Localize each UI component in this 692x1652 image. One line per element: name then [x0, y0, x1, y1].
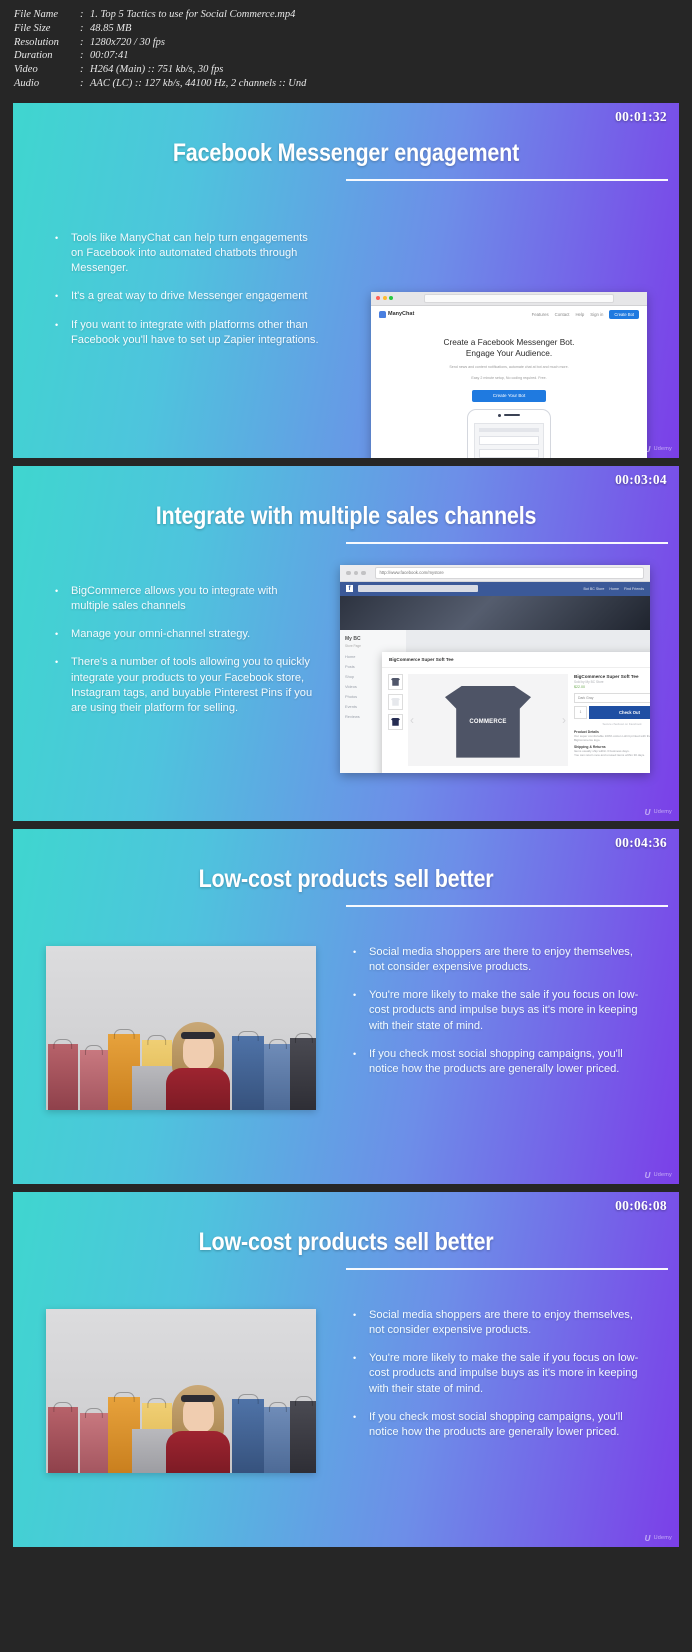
bullet-text: You're more likely to make the sale if y…: [369, 1351, 643, 1397]
udemy-watermark-label: Udemy: [654, 1535, 672, 1541]
slide-bullet-list: • Tools like ManyChat can help turn enga…: [55, 231, 323, 361]
slide-timestamp: 00:06:08: [615, 1198, 667, 1214]
variant-select: Dark Gray: [574, 693, 650, 703]
shopping-bag-black: [290, 1401, 316, 1473]
udemy-watermark: U Udemy: [645, 1534, 672, 1543]
window-maximize-icon: [361, 571, 366, 576]
nav-link-features: Features: [532, 312, 549, 317]
hero-subtext-line1: Send news and content notifications, aut…: [381, 365, 637, 370]
udemy-watermark-label: Udemy: [654, 446, 672, 452]
metadata-separator: :: [80, 8, 90, 22]
metadata-separator: :: [80, 49, 90, 63]
prev-image-icon: ‹: [410, 713, 414, 727]
bullet-item: • It's a great way to drive Messenger en…: [55, 289, 323, 304]
product-panel-title: BigCommerce Super Soft Tee: [382, 652, 650, 668]
nav-link-find-friends: Find Friends: [624, 587, 644, 591]
metadata-key: Resolution: [14, 36, 80, 50]
title-underline: [346, 905, 668, 907]
bullet-text: There's a number of tools allowing you t…: [71, 655, 317, 716]
bullet-marker-icon: •: [353, 1047, 369, 1077]
sunglasses-icon: [181, 1032, 215, 1039]
udemy-watermark-label: Udemy: [654, 809, 672, 815]
slide-bullet-list: • Social media shoppers are there to enj…: [353, 945, 643, 1090]
title-underline: [346, 179, 668, 181]
facebook-search-input: [358, 585, 478, 592]
bullet-item: • If you check most social shopping camp…: [353, 1047, 643, 1077]
bullet-marker-icon: •: [353, 945, 369, 975]
udemy-logo-icon: U: [645, 1171, 651, 1180]
nav-link-store: Bot BC Store: [583, 587, 604, 591]
shopping-bag-red: [48, 1044, 78, 1110]
bullet-text: Social media shoppers are there to enjoy…: [369, 1308, 643, 1338]
bullet-text: If you want to integrate with platforms …: [71, 318, 323, 348]
slide-thumbnail-1: 00:01:32 Facebook Messenger engagement •…: [13, 103, 679, 458]
nav-link-help: Help: [575, 312, 584, 317]
bullet-marker-icon: •: [353, 1351, 369, 1397]
secure-checkout-note: Secure checkout on Facebook: [574, 722, 650, 726]
checkout-button: Check Out: [589, 706, 650, 719]
bullet-item: • If you want to integrate with platform…: [55, 318, 323, 348]
slide-title: Low-cost products sell better: [60, 865, 633, 894]
red-top: [166, 1431, 230, 1473]
purchase-row: 1 Check Out: [574, 706, 650, 719]
metadata-key: Video: [14, 63, 80, 77]
hero-headline-line1: Create a Facebook Messenger Bot.: [381, 337, 637, 348]
chat-bubble: [479, 449, 539, 458]
facebook-cover-photo: [340, 596, 650, 630]
metadata-separator: :: [80, 22, 90, 36]
shopping-bag-lightblue: [264, 1407, 292, 1473]
udemy-logo-icon: U: [645, 808, 651, 817]
red-top: [166, 1068, 230, 1110]
bullet-text: You're more likely to make the sale if y…: [369, 988, 643, 1034]
metadata-row: File Name : 1. Top 5 Tactics to use for …: [14, 8, 692, 22]
bullet-marker-icon: •: [55, 655, 71, 716]
bullet-marker-icon: •: [55, 231, 71, 277]
product-thumbnail: [388, 674, 403, 690]
bullet-text: If you check most social shopping campai…: [369, 1410, 643, 1440]
bullet-marker-icon: •: [353, 1308, 369, 1338]
bullet-text: If you check most social shopping campai…: [369, 1047, 643, 1077]
slide-bullet-list: • BigCommerce allows you to integrate wi…: [55, 584, 317, 729]
metadata-row: File Size : 48.85 MB: [14, 22, 692, 36]
product-detail-panel: BigCommerce Super Soft Tee ‹ › COMMERCE: [382, 652, 650, 773]
window-maximize-icon: [389, 296, 393, 300]
phone-illustration: [467, 409, 551, 458]
metadata-key: Duration: [14, 49, 80, 63]
bullet-marker-icon: •: [353, 988, 369, 1034]
photo-scene: [46, 1309, 316, 1473]
product-panel-body: ‹ › COMMERCE BigCommerce Super Soft Tee …: [382, 668, 650, 772]
shipping-text-2: You can return new and unused items with…: [574, 753, 650, 757]
udemy-watermark-label: Udemy: [654, 1172, 672, 1178]
shopping-bag-blue: [232, 1399, 264, 1473]
shopping-bags-photo: [46, 1309, 316, 1473]
product-name: BigCommerce Super Soft Tee: [574, 674, 650, 679]
manychat-nav-links: Features Contact Help Sign in Create Bot: [532, 310, 639, 319]
slide-thumbnail-3: 00:04:36 Low-cost products sell better: [13, 829, 679, 1184]
browser-address-bar: http://www.facebook.com/mystore: [375, 567, 645, 579]
browser-titlebar: http://www.facebook.com/mystore: [340, 565, 650, 582]
slide-title: Facebook Messenger engagement: [60, 139, 633, 168]
tee-logo-text: COMMERCE: [469, 719, 506, 725]
product-thumbnail: [388, 694, 403, 710]
bullet-item: • BigCommerce allows you to integrate wi…: [55, 584, 317, 614]
bullet-text: Tools like ManyChat can help turn engage…: [71, 231, 323, 277]
hero-headline-line2: Engage Your Audience.: [381, 348, 637, 359]
facebook-store-mockup: http://www.facebook.com/mystore f Bot BC…: [340, 565, 650, 773]
product-details-text: Our super comfortable 100% cotton t-shir…: [574, 734, 650, 742]
shopping-bag-pink: [80, 1050, 108, 1110]
manychat-browser-mockup: ManyChat Features Contact Help Sign in C…: [371, 292, 647, 458]
product-price: $22.00: [574, 685, 650, 689]
udemy-watermark: U Udemy: [645, 808, 672, 817]
slide-timestamp: 00:04:36: [615, 835, 667, 851]
bullet-marker-icon: •: [55, 289, 71, 304]
nav-link-signin: Sign in: [590, 312, 603, 317]
metadata-value: 48.85 MB: [90, 22, 692, 36]
window-minimize-icon: [354, 571, 359, 576]
slide-bullet-list: • Social media shoppers are there to enj…: [353, 1308, 643, 1453]
tshirt-icon: [391, 678, 400, 686]
facebook-navbar: f Bot BC Store Home Find Friends: [340, 582, 650, 596]
udemy-logo-icon: U: [645, 1534, 651, 1543]
shopping-bag-blue: [232, 1036, 264, 1110]
metadata-value: 00:07:41: [90, 49, 692, 63]
metadata-value: 1. Top 5 Tactics to use for Social Comme…: [90, 8, 692, 22]
metadata-value: 1280x720 / 30 fps: [90, 36, 692, 50]
metadata-key: File Size: [14, 22, 80, 36]
file-metadata-block: File Name : 1. Top 5 Tactics to use for …: [0, 0, 692, 97]
facebook-page-body: My BC Store Page Home Posts Shop Videos …: [340, 630, 650, 773]
create-bot-button: Create Bot: [609, 310, 639, 319]
store-name: My BC: [345, 636, 401, 642]
manychat-navbar: ManyChat Features Contact Help Sign in C…: [371, 306, 647, 323]
slide-timestamp: 00:01:32: [615, 109, 667, 125]
shopping-bags-photo: [46, 946, 316, 1110]
bullet-text: Social media shoppers are there to enjoy…: [369, 945, 643, 975]
bullet-text: It's a great way to drive Messenger enga…: [71, 289, 323, 304]
product-thumbnail-list: [388, 674, 402, 766]
bullet-item: • If you check most social shopping camp…: [353, 1410, 643, 1440]
manychat-brand-label: ManyChat: [388, 311, 414, 317]
video-preview-sheet: File Name : 1. Top 5 Tactics to use for …: [0, 0, 692, 1652]
metadata-separator: :: [80, 77, 90, 91]
browser-titlebar: [371, 292, 647, 306]
title-underline: [346, 1268, 668, 1270]
metadata-value: AAC (LC) :: 127 kb/s, 44100 Hz, 2 channe…: [90, 77, 692, 91]
metadata-key: File Name: [14, 8, 80, 22]
phone-speaker-icon: [498, 414, 520, 417]
window-minimize-icon: [383, 296, 387, 300]
window-close-icon: [346, 571, 351, 576]
shopper-person: [164, 1377, 232, 1473]
slide-title: Low-cost products sell better: [60, 1228, 633, 1257]
metadata-value: H264 (Main) :: 751 kb/s, 30 fps: [90, 63, 692, 77]
bullet-item: • You're more likely to make the sale if…: [353, 988, 643, 1034]
bullet-item: • Manage your omni-channel strategy.: [55, 627, 317, 642]
udemy-watermark: U Udemy: [645, 1171, 672, 1180]
shopping-bag-red: [48, 1407, 78, 1473]
store-subtitle: Store Page: [345, 644, 401, 648]
bullet-text: BigCommerce allows you to integrate with…: [71, 584, 317, 614]
next-image-icon: ›: [562, 713, 566, 727]
metadata-separator: :: [80, 63, 90, 77]
bullet-text: Manage your omni-channel strategy.: [71, 627, 317, 642]
slide-thumbnail-2: 00:03:04 Integrate with multiple sales c…: [13, 466, 679, 821]
browser-address-bar: [424, 294, 615, 303]
product-main-image: ‹ › COMMERCE: [408, 674, 568, 766]
robot-icon: [379, 311, 386, 318]
bullet-item: • Social media shoppers are there to enj…: [353, 945, 643, 975]
bullet-marker-icon: •: [55, 318, 71, 348]
tshirt-icon: [391, 718, 400, 726]
nav-link-home: Home: [609, 587, 619, 591]
bullet-item: • There's a number of tools allowing you…: [55, 655, 317, 716]
shopping-bag-pink: [80, 1413, 108, 1473]
bullet-marker-icon: •: [55, 584, 71, 614]
title-underline: [346, 542, 668, 544]
window-close-icon: [376, 296, 380, 300]
phone-earpiece-icon: [504, 414, 520, 417]
bullet-item: • You're more likely to make the sale if…: [353, 1351, 643, 1397]
phone-camera-icon: [498, 414, 501, 417]
slide-timestamp: 00:03:04: [615, 472, 667, 488]
chat-header-line: [479, 428, 539, 432]
metadata-separator: :: [80, 36, 90, 50]
facebook-logo-icon: f: [346, 585, 353, 592]
sunglasses-icon: [181, 1395, 215, 1402]
chat-bubble: [479, 436, 539, 445]
metadata-row: Video : H264 (Main) :: 751 kb/s, 30 fps: [14, 63, 692, 77]
udemy-watermark: U Udemy: [645, 445, 672, 454]
slide-thumbnail-4: 00:06:08 Low-cost products sell better: [13, 1192, 679, 1547]
quantity-stepper: 1: [574, 706, 587, 719]
metadata-row: Duration : 00:07:41: [14, 49, 692, 63]
slide-title: Integrate with multiple sales channels: [60, 502, 633, 531]
shopper-person: [164, 1014, 232, 1110]
shopping-bag-black: [290, 1038, 316, 1110]
udemy-logo-icon: U: [645, 445, 651, 454]
product-seller: Sold by My BC Store: [574, 680, 650, 684]
metadata-row: Audio : AAC (LC) :: 127 kb/s, 44100 Hz, …: [14, 77, 692, 91]
nav-link-contact: Contact: [555, 312, 570, 317]
bullet-marker-icon: •: [55, 627, 71, 642]
photo-scene: [46, 946, 316, 1110]
manychat-logo: ManyChat: [379, 311, 414, 318]
tshirt-icon: [391, 698, 400, 706]
product-info: BigCommerce Super Soft Tee Sold by My BC…: [574, 674, 650, 766]
create-your-bot-button: Create Your Bot: [472, 390, 546, 402]
tshirt-product-photo: COMMERCE: [445, 686, 531, 758]
bullet-item: • Social media shoppers are there to enj…: [353, 1308, 643, 1338]
shopping-bag-lightblue: [264, 1044, 292, 1110]
hero-subtext-line2: Easy 2 minute setup, No coding required.…: [381, 376, 637, 381]
bullet-item: • Tools like ManyChat can help turn enga…: [55, 231, 323, 277]
metadata-key: Audio: [14, 77, 80, 91]
facebook-nav-links: Bot BC Store Home Find Friends: [583, 587, 644, 591]
manychat-hero: Create a Facebook Messenger Bot. Engage …: [371, 323, 647, 458]
metadata-row: Resolution : 1280x720 / 30 fps: [14, 36, 692, 50]
bullet-marker-icon: •: [353, 1410, 369, 1440]
product-thumbnail: [388, 714, 403, 730]
phone-screen: [474, 423, 544, 458]
